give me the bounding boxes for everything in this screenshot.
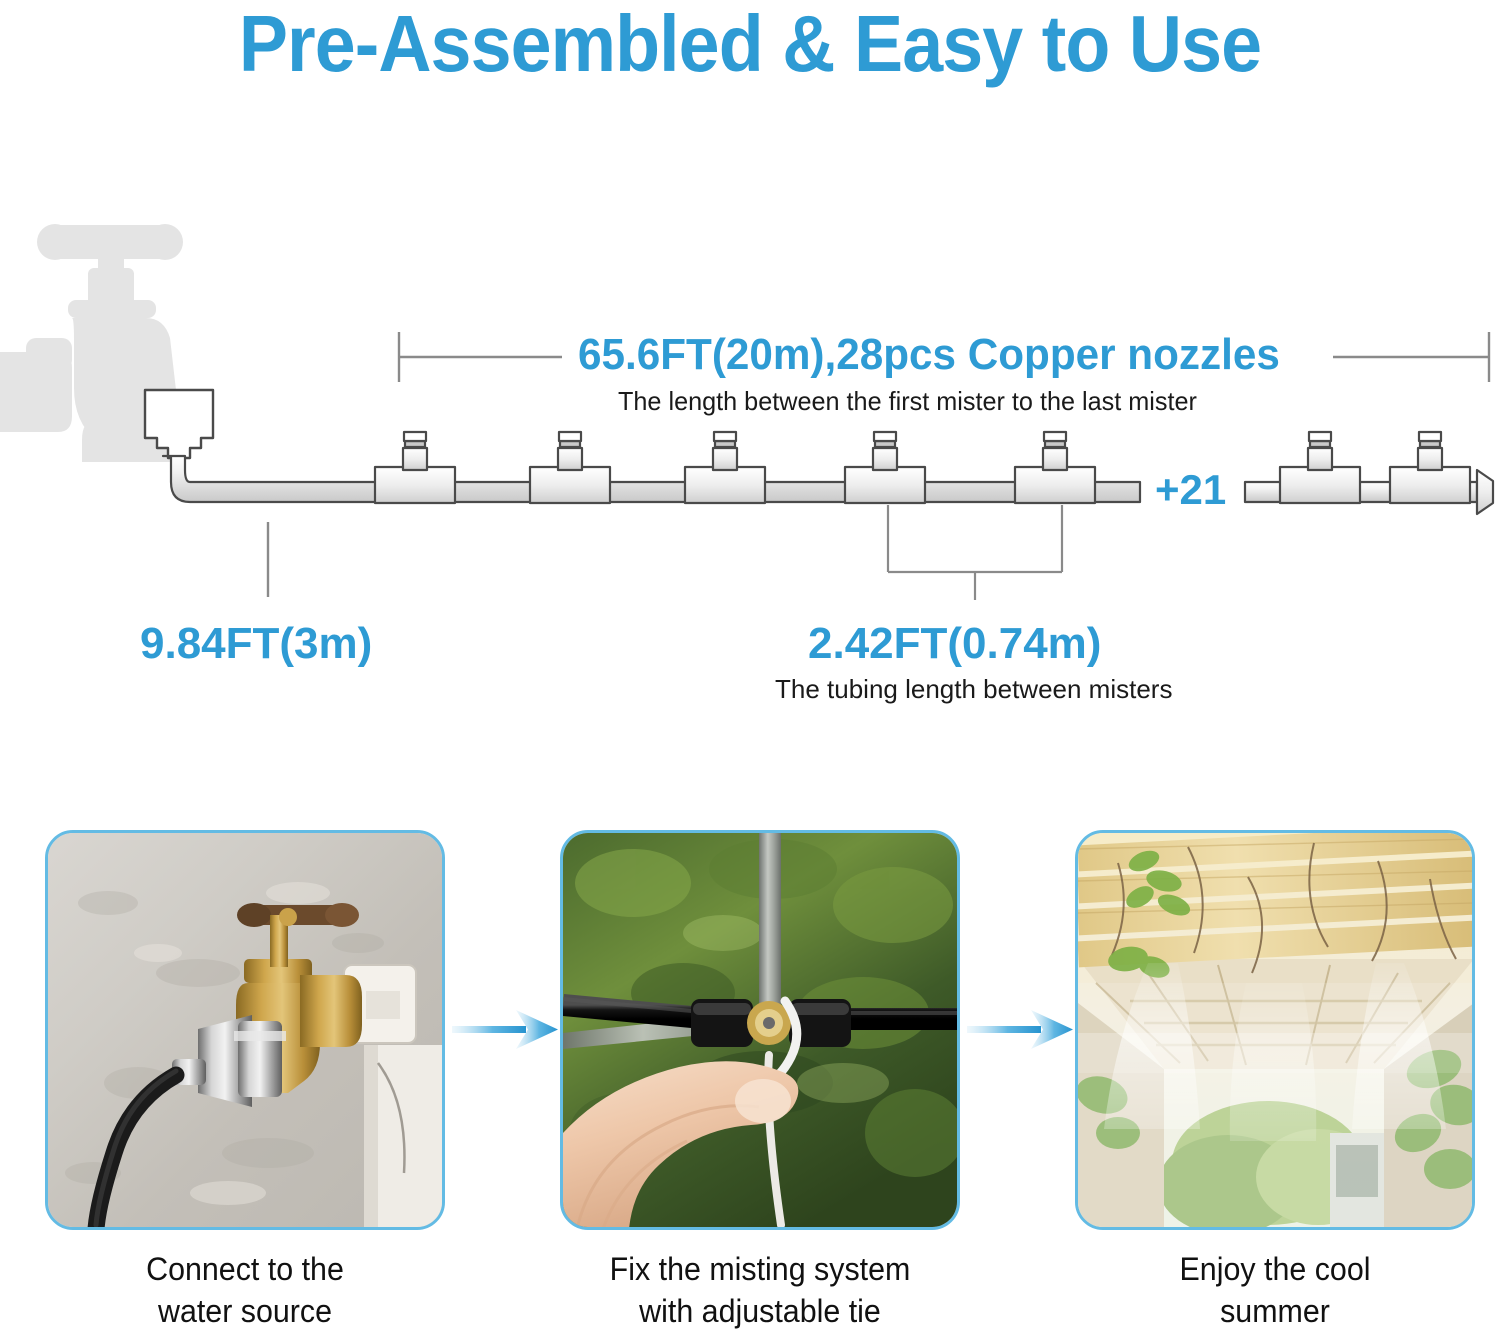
mister-spacing-sublabel: The tubing length between misters [775,673,1172,705]
system-diagram: 65.6FT(20m),28pcs Copper nozzles The len… [0,0,1500,800]
step-caption-3: Enjoy the cool summer [1085,1248,1465,1332]
zip-tie-photo-illustration [563,833,957,1227]
mister-tee-icon [1245,432,1477,503]
extra-nozzles-label: +21 [1155,466,1226,514]
main-length-sublabel: The length between the first mister to t… [618,385,1197,417]
pergola-mist-photo-illustration [1078,833,1472,1227]
step-item-2: Fix the misting system with adjustable t… [560,830,960,1332]
spigot-photo-illustration [48,833,442,1227]
photo-connect-water-source [45,830,445,1230]
step-caption-2: Fix the misting system with adjustable t… [570,1248,950,1332]
steps-section: Connect to the water source [0,830,1500,1344]
step-item-3: Enjoy the cool summer [1075,830,1475,1332]
step-caption-1: Connect to the water source [55,1248,435,1332]
photo-enjoy-cool-summer [1075,830,1475,1230]
lead-length-label: 9.84FT(3m) [140,617,372,671]
step-item-1: Connect to the water source [45,830,445,1332]
mister-spacing-label: 2.42FT(0.74m) [808,617,1101,671]
photo-fix-with-tie [560,830,960,1230]
main-length-label: 65.6FT(20m),28pcs Copper nozzles [578,330,1280,380]
bracket-icon [888,505,1062,600]
arrow-right-icon [967,1002,1077,1058]
tubing-icon [134,456,1140,512]
end-cap-icon [1477,470,1493,514]
arrow-right-icon [452,1002,562,1058]
